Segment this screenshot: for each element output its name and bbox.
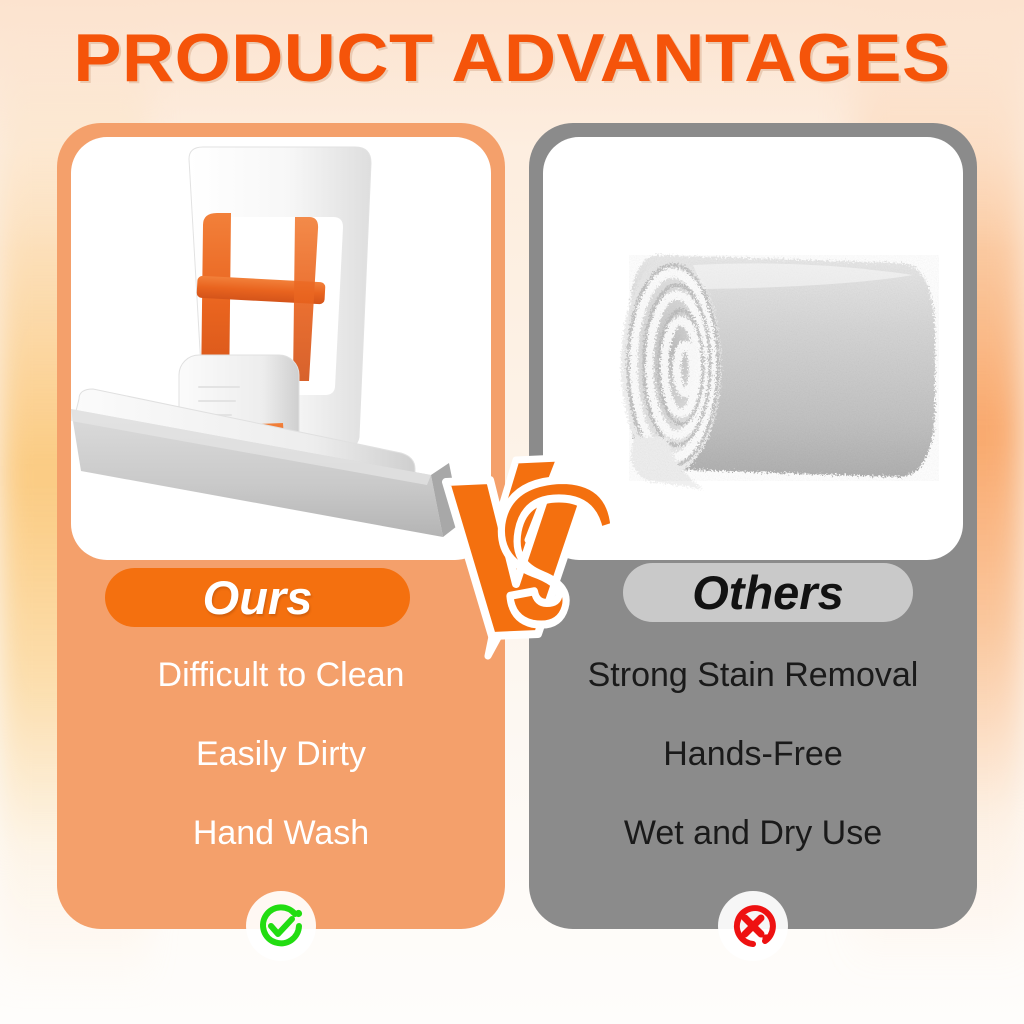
sponge-mop-illustration (71, 137, 491, 560)
feature-item: Strong Stain Removal (529, 658, 977, 692)
infographic-canvas: PRODUCT ADVANTAGES (0, 0, 1024, 1024)
check-badge (246, 891, 316, 961)
product-photo-ours (71, 137, 491, 560)
check-circle-icon (255, 900, 307, 952)
card-label-ours: Ours (105, 568, 410, 627)
card-label-text: Others (692, 565, 844, 620)
card-label-others: Others (623, 563, 913, 622)
page-title: PRODUCT ADVANTAGES (0, 24, 1024, 92)
cross-circle-icon (727, 900, 779, 952)
versus-mark (432, 452, 632, 662)
feature-item: Easily Dirty (57, 737, 505, 771)
feature-item: Difficult to Clean (57, 658, 505, 692)
feature-item: Hands-Free (529, 737, 977, 771)
feature-list-ours: Difficult to Clean Easily Dirty Hand Was… (57, 658, 505, 895)
feature-item: Wet and Dry Use (529, 816, 977, 850)
feature-list-others: Strong Stain Removal Hands-Free Wet and … (529, 658, 977, 895)
card-label-text: Ours (203, 570, 313, 625)
feature-item: Hand Wash (57, 816, 505, 850)
cross-badge (718, 891, 788, 961)
